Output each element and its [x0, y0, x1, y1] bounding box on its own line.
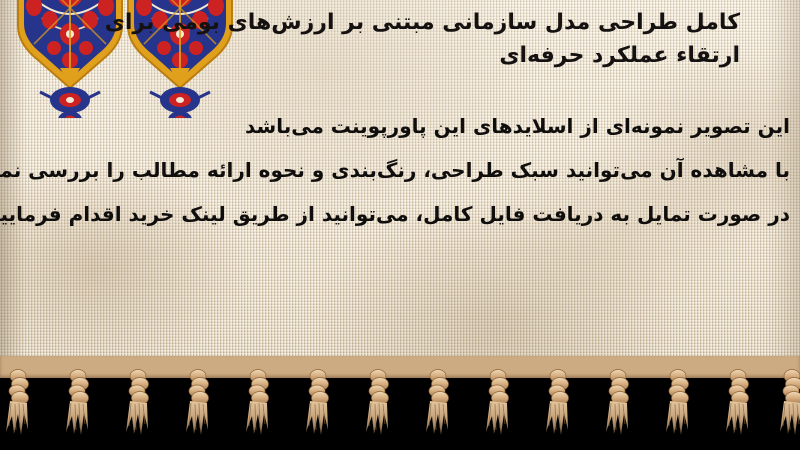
- title-line-2: ارتقاء عملکرد حرفه‌ای: [220, 39, 740, 72]
- body-line-3: در صورت تمایل به دریافت فایل کامل، می‌تو…: [6, 192, 790, 236]
- body-line-2: با مشاهده آن می‌توانید سبک طراحی، رنگ‌بن…: [6, 148, 790, 192]
- slide-title: کامل طراحی مدل سازمانی مبتنی بر ارزش‌های…: [220, 6, 740, 72]
- slide-canvas: کامل طراحی مدل سازمانی مبتنی بر ارزش‌های…: [0, 0, 800, 450]
- carpet-fringe-zone: [0, 356, 800, 450]
- title-line-1: کامل طراحی مدل سازمانی مبتنی بر ارزش‌های…: [220, 6, 740, 39]
- fringe-tassels-icon: [0, 356, 800, 450]
- body-line-1: این تصویر نمونه‌ای از اسلایدهای این پاور…: [6, 104, 790, 148]
- slide-body-text: این تصویر نمونه‌ای از اسلایدهای این پاور…: [6, 104, 790, 236]
